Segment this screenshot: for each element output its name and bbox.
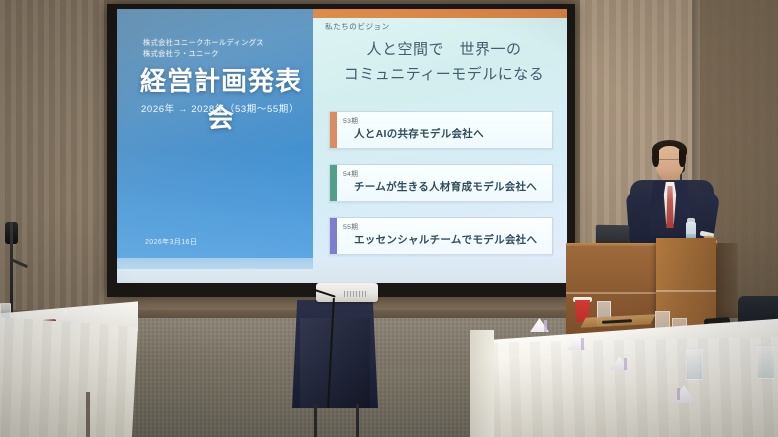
phase-label-53: 53期 xyxy=(343,115,358,125)
podium-front-seam xyxy=(656,290,716,292)
front-table-cloth xyxy=(470,337,778,437)
phase-text-53: 人とAIの共存モデル会社へ xyxy=(354,126,484,141)
slide-vision-panel: 私たちのビジョン 人と空間で 世界一の コミュニティーモデルになる 53期 人と… xyxy=(313,9,567,269)
company-name-2: 株式会社ラ・ユニーク xyxy=(143,48,264,59)
left-table-leg xyxy=(86,392,90,437)
presenter xyxy=(616,136,736,254)
vision-headline-line-2: コミュニティーモデルになる xyxy=(333,62,555,87)
vision-headline-line-1: 人と空間で 世界一の xyxy=(366,41,521,58)
company-name-1: 株式会社ユニークホールディングス xyxy=(143,37,264,48)
projector-vent xyxy=(344,291,366,297)
projector-stand-leg-right xyxy=(356,404,359,437)
phase-box-54: 54期 チームが生きる人材育成モデル会社へ xyxy=(329,164,553,202)
place-card-strip xyxy=(677,388,680,400)
slide-main-title: 経営計画発表会 xyxy=(133,61,309,135)
front-table-left-drape xyxy=(470,330,494,437)
conference-room-photo: 株式会社ユニークホールディングス 株式会社ラ・ユニーク 経営計画発表会 2026… xyxy=(0,0,778,437)
phase-label-55: 55期 xyxy=(343,221,358,231)
slide-title-panel: 株式会社ユニークホールディングス 株式会社ラ・ユニーク 経営計画発表会 2026… xyxy=(117,9,313,269)
projection-screen-surface: 株式会社ユニークホールディングス 株式会社ラ・ユニーク 経営計画発表会 2026… xyxy=(117,9,567,283)
place-card-strip xyxy=(624,358,627,370)
phase-box-55: 55期 エッセンシャルチームでモデル会社へ xyxy=(329,217,553,255)
vision-kicker-label: 私たちのビジョン xyxy=(325,21,390,32)
drinking-glass xyxy=(757,345,775,379)
phase-label-54: 54期 xyxy=(343,168,358,178)
phase-box-53: 53期 人とAIの共存モデル会社へ xyxy=(329,111,553,149)
phase-accent-bar-54 xyxy=(330,165,337,201)
slide-date: 2026年3月16日 xyxy=(145,237,197,247)
phase-accent-bar-53 xyxy=(330,112,337,148)
phase-accent-bar-55 xyxy=(330,218,337,254)
screen-lower-glow xyxy=(117,258,567,283)
company-names: 株式会社ユニークホールディングス 株式会社ラ・ユニーク xyxy=(143,37,264,59)
presentation-slide: 株式会社ユニークホールディングス 株式会社ラ・ユニーク 経営計画発表会 2026… xyxy=(117,9,567,269)
left-table-cloth xyxy=(0,316,138,437)
slide-period-range: 2026年 → 2028年（53期〜55期） xyxy=(127,101,313,115)
left-wall xyxy=(0,0,104,340)
phase-text-54: チームが生きる人材育成モデル会社へ xyxy=(354,179,537,194)
place-card-strip xyxy=(544,320,547,332)
vision-headline: 人と空間で 世界一の コミュニティーモデルになる xyxy=(333,37,555,87)
phase-text-55: エッセンシャルチームでモデル会社へ xyxy=(354,232,537,247)
place-card-strip xyxy=(581,338,584,350)
projector-stand-leg-left xyxy=(314,404,317,437)
vision-top-accent-bar xyxy=(313,9,567,18)
projector-stand-cloth-fold xyxy=(300,318,370,408)
drinking-glass xyxy=(686,348,703,380)
presenter-glasses xyxy=(656,159,683,166)
